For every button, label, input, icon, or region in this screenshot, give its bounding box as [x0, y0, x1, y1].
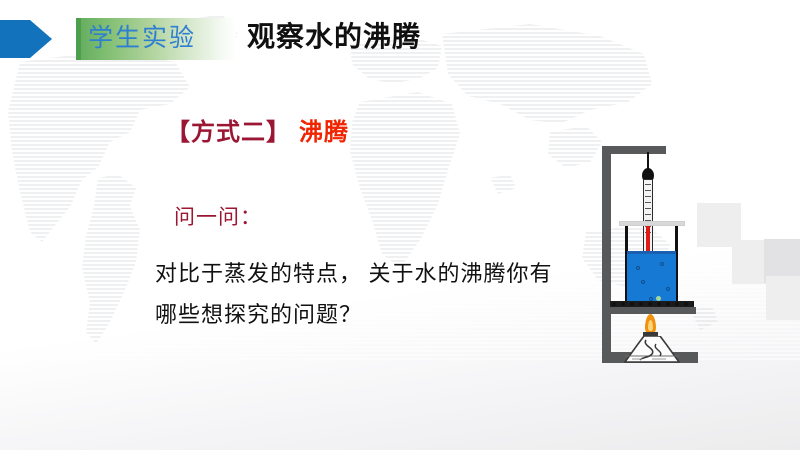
mode-heading-bracket: 【方式二】 [166, 120, 291, 146]
question-paragraph: 对比于蒸发的特点， 关于水的沸腾你有哪些想探究的问题？ [155, 253, 555, 335]
arrow-graphic [0, 18, 80, 60]
mode-heading-word: 沸腾 [291, 120, 349, 146]
bubble [641, 280, 645, 284]
water-surface [627, 251, 676, 254]
bubble [636, 266, 640, 270]
boiling-experiment-diagram [596, 146, 716, 368]
support-shelf [610, 307, 696, 314]
page-title: 观察水的沸腾 [247, 16, 421, 60]
bubble [660, 262, 664, 266]
bubble [666, 287, 670, 291]
mode-heading: 【方式二】沸腾 [166, 118, 349, 148]
chevron-dark-icon [0, 20, 30, 58]
decor-square-4 [766, 276, 800, 320]
stand-crossbar-top [602, 146, 666, 154]
flame-inner [648, 320, 653, 331]
stand-post [602, 146, 611, 358]
alcohol-burner-body [622, 336, 682, 368]
slide-canvas: 学生实验 观察水的沸腾 【方式二】沸腾 问一问： 对比于蒸发的特点， 关于水的沸… [0, 0, 800, 450]
ask-label: 问一问： [174, 203, 262, 231]
banner-label: 学生实验 [88, 18, 238, 60]
